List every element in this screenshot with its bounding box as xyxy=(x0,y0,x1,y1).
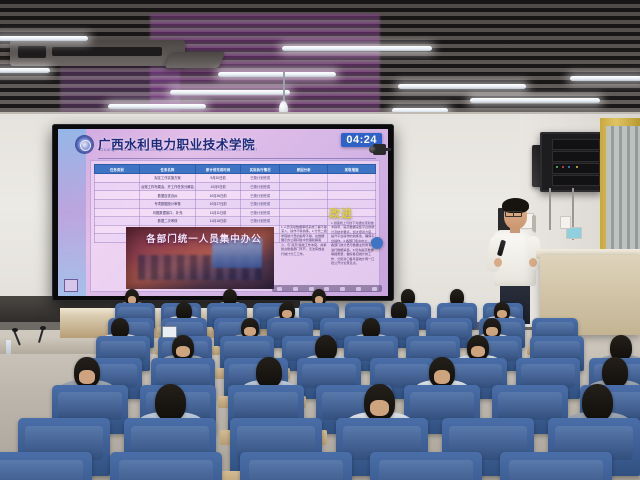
audience-member-face xyxy=(486,327,498,336)
row-status: 已按计划完成 xyxy=(241,208,280,217)
audience-member-face xyxy=(370,400,390,416)
row-task: 专项数据统计审核 xyxy=(139,199,195,208)
audience-member-head xyxy=(602,357,628,388)
row-task: 台账工作布置会、开工作任务分解会 xyxy=(139,182,195,191)
table-header-row: 任务类别 任务名称 原计划完成时间 实际执行情况 原因分析 采取措施 xyxy=(95,165,376,174)
table-row: 拟定工作实施方案9月30日前已按计划完成 xyxy=(95,174,376,183)
col-planned: 原计划完成时间 xyxy=(196,165,241,174)
row-category xyxy=(95,191,140,200)
desk-microphone-head-2 xyxy=(40,326,46,330)
row-analysis xyxy=(280,199,328,208)
toolbar-icon-7[interactable] xyxy=(372,287,377,291)
row-category xyxy=(95,217,140,226)
wall-ceiling-seam xyxy=(0,112,640,114)
av-equipment-rack xyxy=(540,132,602,192)
improvement-heading: 改进 xyxy=(329,205,353,221)
water-bottle-1 xyxy=(6,340,11,354)
row-category xyxy=(95,182,140,191)
col-status: 实际执行情况 xyxy=(241,165,280,174)
ceiling-ac-unit-left xyxy=(10,40,185,66)
slide-header-rule xyxy=(98,158,376,159)
toolbar-icon-3[interactable] xyxy=(309,287,314,291)
row-planned: 10月26日前 xyxy=(196,191,241,200)
measures-text: 1.加强线上与线下沟通交流和技术指导，提高数据采集平台的统计及技术要点，加大培训… xyxy=(331,221,375,266)
row-planned: 9月30日前 xyxy=(196,174,241,183)
desk-microphone-head-1 xyxy=(12,328,18,332)
row-category xyxy=(95,174,140,183)
ceiling-light-2 xyxy=(0,68,50,73)
audience-laptop xyxy=(162,326,177,338)
toolbar-icon-1[interactable] xyxy=(277,287,282,291)
wall-cable-1 xyxy=(549,188,551,230)
row-category xyxy=(95,199,140,208)
row-task: 问题数据接口、补充 xyxy=(139,208,195,217)
ceiling-light-9 xyxy=(570,76,640,81)
camera-lens-icon xyxy=(369,146,376,153)
led-video-wall[interactable]: 广西水利电力职业技术学院 Guangxi Vocational College … xyxy=(52,124,394,301)
col-analysis: 原因分析 xyxy=(280,165,328,174)
audience-member-face xyxy=(244,327,256,336)
row-task: 拟定工作实施方案 xyxy=(139,174,195,183)
audience-member-face xyxy=(471,346,485,357)
row-analysis xyxy=(280,182,328,191)
audience-member-face xyxy=(434,370,451,384)
row-status: 已按计划完成 xyxy=(241,191,280,200)
ceiling xyxy=(0,0,640,118)
row-status: 已按计划完成 xyxy=(241,182,280,191)
ceiling-light-8 xyxy=(470,98,600,103)
auditorium-seat[interactable] xyxy=(0,452,92,480)
row-task: 数据二次审核 xyxy=(139,217,195,226)
college-emblem-icon xyxy=(76,136,93,153)
col-measures: 采取措施 xyxy=(328,165,376,174)
toolbar-icon-2[interactable] xyxy=(293,287,298,291)
presenter-glasses-right xyxy=(513,211,522,217)
audience-member-face xyxy=(176,346,190,357)
table-row: 台账工作布置会、开工作任务分解会10月9日前已按计划完成 xyxy=(95,182,376,191)
row-category xyxy=(95,208,140,217)
analysis-text: 1.人员流动数据审核系统了解不够深入，操作不够熟练。2.分管二级学院统计员的指导… xyxy=(281,225,327,256)
wall-outlet[interactable] xyxy=(560,216,571,229)
audience-member-head xyxy=(155,384,186,421)
ceiling-light-6 xyxy=(108,104,206,109)
ceiling-light-7 xyxy=(398,84,526,89)
row-status: 已按计划完成 xyxy=(241,217,280,226)
ceiling-ac-unit-right xyxy=(164,52,225,68)
col-task: 任务名称 xyxy=(139,165,195,174)
row-planned: 10月27日前 xyxy=(196,199,241,208)
row-analysis xyxy=(280,208,328,217)
toolbar-icon-4[interactable] xyxy=(324,287,329,291)
audience-member-face xyxy=(79,370,96,384)
slide-corner-logo xyxy=(64,279,78,292)
slide-institution-subtitle: Guangxi Vocational College of Water Reso… xyxy=(100,147,258,152)
slide-display: 广西水利电力职业技术学院 Guangxi Vocational College … xyxy=(58,129,388,296)
auditorium-seat[interactable] xyxy=(240,452,352,480)
toolbar-icon-5[interactable] xyxy=(340,287,345,291)
ceiling-light-4 xyxy=(218,72,336,77)
auditorium-seat[interactable] xyxy=(500,452,612,480)
ceiling-light-5 xyxy=(170,90,290,95)
toolbar-icon-6[interactable] xyxy=(356,287,361,291)
audience-member-head xyxy=(256,357,282,388)
row-task: 数据自查自纠 xyxy=(139,191,195,200)
row-measures xyxy=(328,174,376,183)
audience-member-head xyxy=(582,384,613,421)
ceiling-light-1 xyxy=(0,36,88,41)
ceiling-light-3 xyxy=(282,46,432,51)
annotation-pen-icon[interactable] xyxy=(371,237,383,249)
row-planned: 11月18日前 xyxy=(196,217,241,226)
auditorium-seat[interactable] xyxy=(110,452,222,480)
presenter-hand-right xyxy=(529,258,537,267)
table-row: 数据自查自纠10月26日前已按计划完成 xyxy=(95,191,376,200)
lecture-hall-photo: 广西水利电力职业技术学院 Guangxi Vocational College … xyxy=(0,0,640,480)
pendant-light-rod xyxy=(283,72,285,104)
row-analysis xyxy=(280,191,328,200)
auditorium-seat[interactable] xyxy=(370,452,482,480)
row-measures xyxy=(328,191,376,200)
col-category: 任务类别 xyxy=(95,165,140,174)
row-measures xyxy=(328,182,376,191)
presentation-toolbar[interactable] xyxy=(272,285,382,292)
row-status: 已按计划完成 xyxy=(241,199,280,208)
row-planned: 10月9日前 xyxy=(196,182,241,191)
slide-photo-caption: 各部门统一人员集中办公 xyxy=(129,231,279,245)
slide-content-panel: 任务类别 任务名称 原计划完成时间 实际执行情况 原因分析 采取措施 拟定工作实… xyxy=(90,160,380,292)
row-analysis xyxy=(280,217,328,226)
row-planned: 11月11日前 xyxy=(196,208,241,217)
row-status: 已按计划完成 xyxy=(241,174,280,183)
slide-header: 广西水利电力职业技术学院 Guangxi Vocational College … xyxy=(70,132,384,156)
row-analysis xyxy=(280,174,328,183)
ptz-camera xyxy=(369,144,391,158)
presenter-hand-left xyxy=(494,258,502,267)
